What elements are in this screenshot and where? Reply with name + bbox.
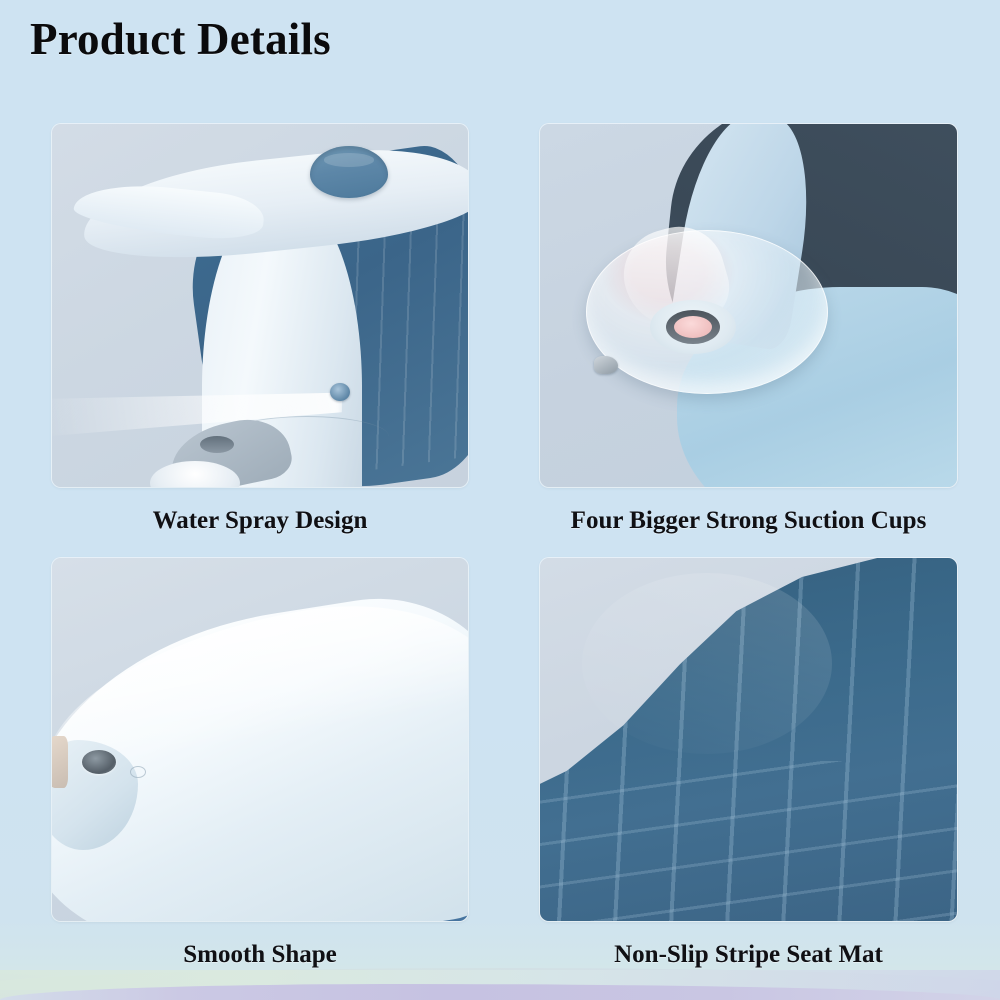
stripe-seat-mat-contours bbox=[540, 761, 957, 921]
feature-image-water-spray-design bbox=[52, 124, 468, 487]
feature-caption-non-slip-stripe-seat-mat: Non-Slip Stripe Seat Mat bbox=[540, 940, 957, 970]
feature-caption-four-bigger-strong-suction-cups: Four Bigger Strong Suction Cups bbox=[540, 506, 957, 536]
feature-grid: Water Spray Design Four Bigger Strong Su… bbox=[52, 124, 957, 970]
base-foot-hole bbox=[200, 436, 234, 453]
feature-image-four-bigger-strong-suction-cups bbox=[540, 124, 957, 487]
feature-cell-four-bigger-strong-suction-cups: Four Bigger Strong Suction Cups bbox=[540, 124, 957, 536]
feature-caption-water-spray-design: Water Spray Design bbox=[52, 506, 468, 536]
product-details-page: Product Details Water Spray Design bbox=[0, 0, 1000, 1000]
spray-nozzle bbox=[330, 383, 350, 401]
rim-small-dot bbox=[130, 766, 146, 778]
feature-cell-water-spray-design: Water Spray Design bbox=[52, 124, 468, 536]
rim-side-tab bbox=[52, 736, 68, 788]
feature-image-smooth-shape bbox=[52, 558, 468, 921]
feature-caption-smooth-shape: Smooth Shape bbox=[52, 940, 468, 970]
mat-gloss-highlight bbox=[582, 573, 832, 755]
suction-cup-release-clip bbox=[594, 356, 618, 374]
feature-row-2: Smooth Shape Non-Slip Stripe Seat Mat bbox=[52, 558, 957, 970]
rim-grommet bbox=[82, 750, 116, 774]
feature-row-1: Water Spray Design Four Bigger Strong Su… bbox=[52, 124, 957, 536]
feature-cell-non-slip-stripe-seat-mat: Non-Slip Stripe Seat Mat bbox=[540, 558, 957, 970]
feature-image-non-slip-stripe-seat-mat bbox=[540, 558, 957, 921]
feature-cell-smooth-shape: Smooth Shape bbox=[52, 558, 468, 970]
page-title: Product Details bbox=[30, 14, 331, 64]
blue-cap-knob bbox=[310, 146, 388, 198]
suction-cup-pink-pad bbox=[674, 316, 712, 338]
